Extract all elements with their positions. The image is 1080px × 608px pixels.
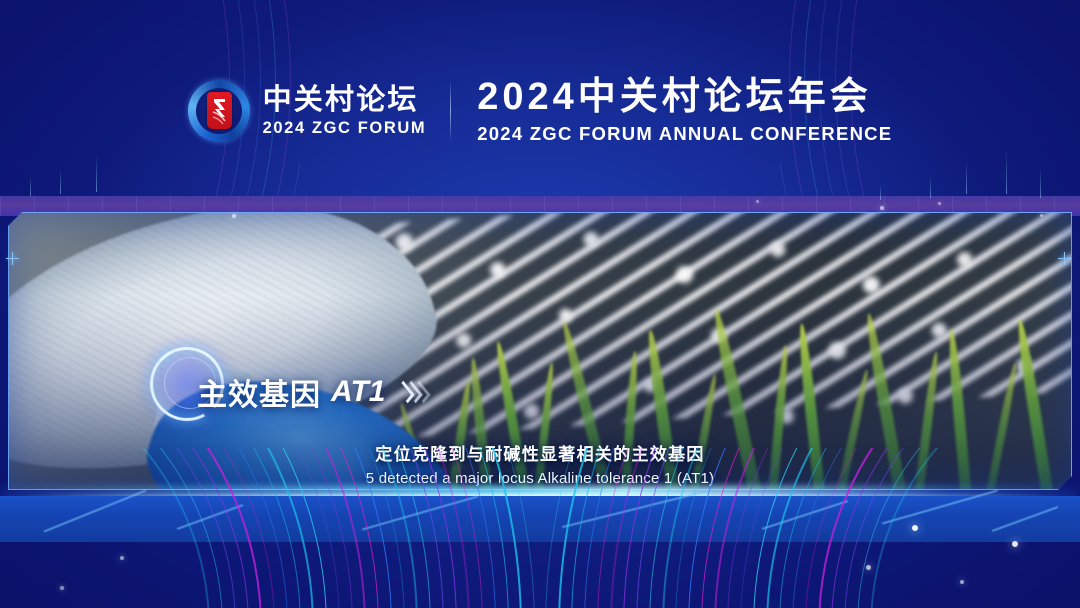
- corner-plus-marker-icon: [1058, 252, 1071, 265]
- corner-plus-marker-icon: [6, 252, 19, 265]
- chevron-right-icon: [403, 383, 427, 401]
- overlay-title-cn: 主效基因: [197, 370, 321, 414]
- brand-title-en: 2024 ZGC FORUM: [263, 119, 427, 138]
- brand-lockup: 中关村论坛 2024 ZGC FORUM: [188, 80, 427, 142]
- conference-title-en: 2024 ZGC FORUM ANNUAL CONFERENCE: [477, 123, 892, 145]
- header: 中关村论坛 2024 ZGC FORUM 2024中关村论坛年会 2024 ZG…: [0, 0, 1080, 196]
- overlay-title-latin: AT1: [331, 375, 385, 409]
- brand-title-cn: 中关村论坛: [263, 85, 419, 115]
- header-divider: [450, 79, 451, 143]
- zgc-forum-emblem-icon: [188, 80, 250, 142]
- conference-title-cn: 2024中关村论坛年会: [477, 78, 872, 118]
- slide-canvas: 中关村论坛 2024 ZGC FORUM 2024中关村论坛年会 2024 ZG…: [0, 0, 1080, 608]
- overlay-title: 主效基因 AT1: [197, 370, 427, 414]
- conference-title-lockup: 2024中关村论坛年会 2024 ZGC FORUM ANNUAL CONFER…: [477, 78, 892, 145]
